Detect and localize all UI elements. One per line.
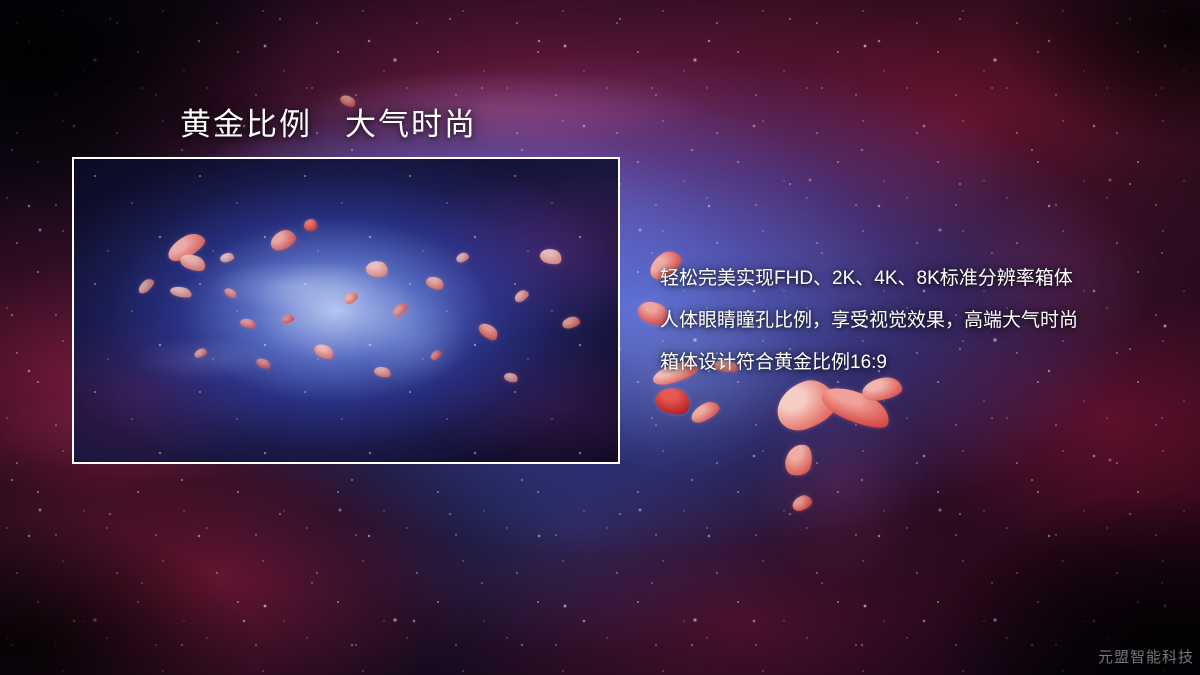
slide-canvas: 黄金比例 大气时尚 轻松完美实现FHD、2K、4K、8K标准分辨率箱体 人体眼睛… bbox=[0, 0, 1200, 675]
panel-image bbox=[74, 159, 618, 462]
galaxy-photo-panel bbox=[72, 157, 620, 464]
body-line-3: 箱体设计符合黄金比例16:9 bbox=[660, 342, 1170, 384]
panel-starfield bbox=[74, 159, 618, 462]
page-title: 黄金比例 大气时尚 bbox=[180, 99, 477, 144]
body-text-block: 轻松完美实现FHD、2K、4K、8K标准分辨率箱体 人体眼睛瞳孔比例，享受视觉效… bbox=[660, 258, 1170, 384]
watermark-label: 元盟智能科技 bbox=[1098, 646, 1194, 667]
body-line-2: 人体眼睛瞳孔比例，享受视觉效果，高端大气时尚 bbox=[660, 300, 1170, 342]
body-line-1: 轻松完美实现FHD、2K、4K、8K标准分辨率箱体 bbox=[660, 258, 1170, 300]
